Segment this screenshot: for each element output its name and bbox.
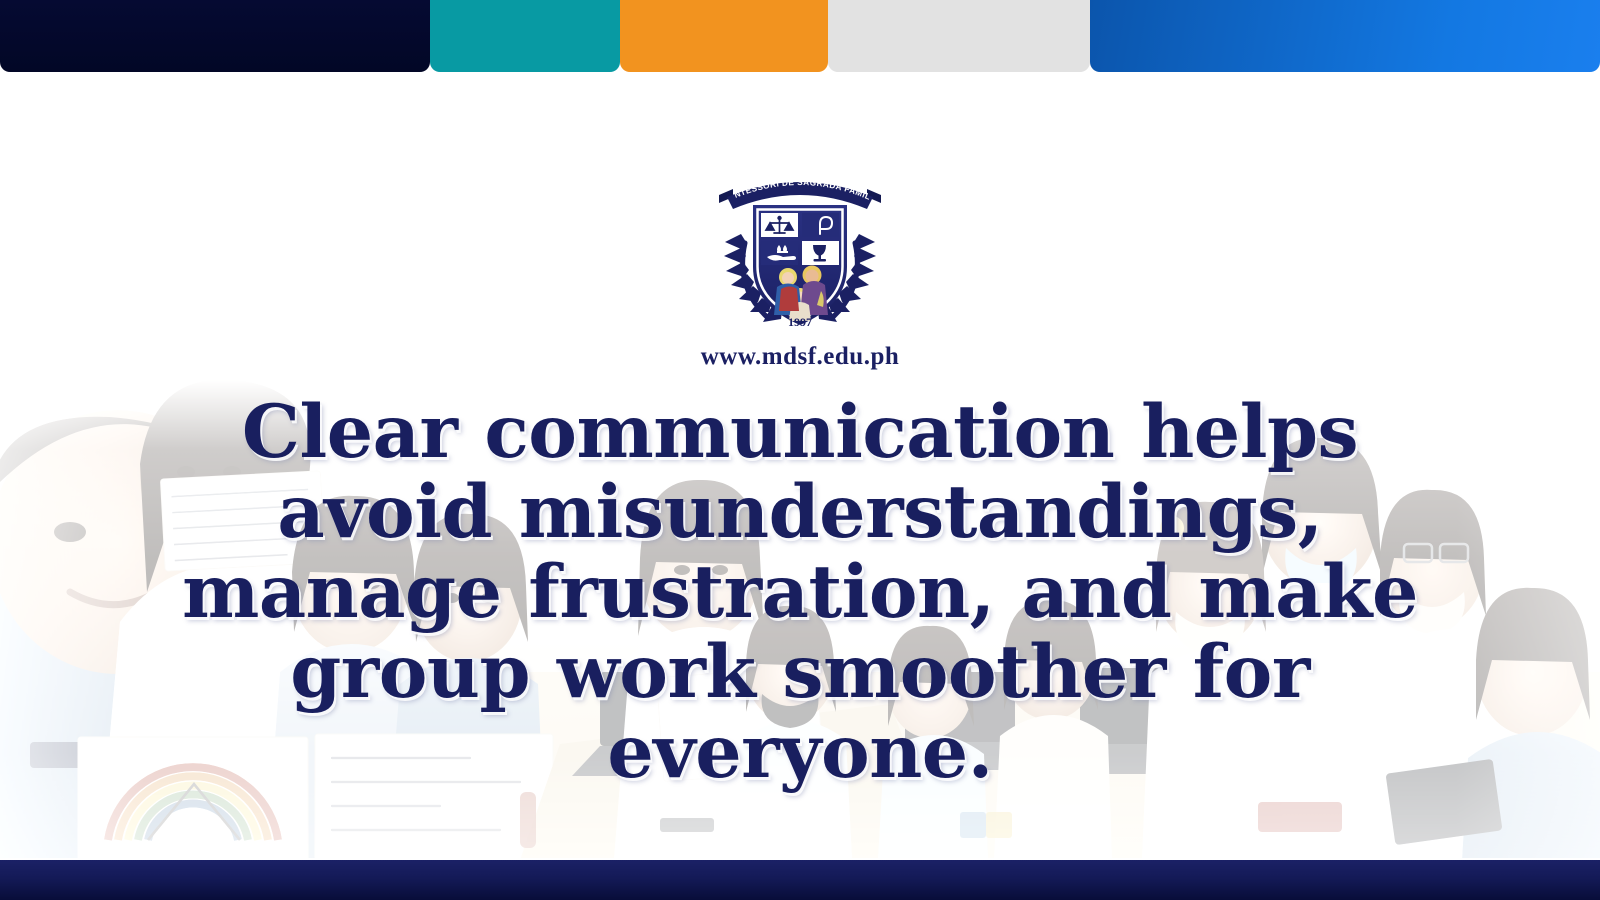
accent-block-orange bbox=[620, 0, 828, 72]
headline-text: Clear communication helps avoid misunder… bbox=[170, 392, 1430, 792]
crest-banner: MONTESSORI DE SAGRADA FAMILIA bbox=[705, 165, 881, 209]
accent-block-teal bbox=[430, 0, 620, 72]
crest-founded-year: 1997 bbox=[788, 315, 812, 329]
bottom-accent-bar bbox=[0, 858, 1600, 900]
school-crest-logo: MONTESSORI DE SAGRADA FAMILIA 1997 bbox=[705, 165, 895, 337]
accent-block-blue bbox=[1090, 0, 1600, 72]
slide-canvas: MONTESSORI DE SAGRADA FAMILIA 1997 www.m… bbox=[0, 0, 1600, 900]
accent-block-navy bbox=[0, 0, 430, 72]
top-accent-bar bbox=[0, 0, 1600, 72]
website-url[interactable]: www.mdsf.edu.ph bbox=[701, 343, 900, 371]
school-logo-block: MONTESSORI DE SAGRADA FAMILIA 1997 www.m… bbox=[0, 165, 1600, 371]
accent-block-gray bbox=[828, 0, 1090, 72]
